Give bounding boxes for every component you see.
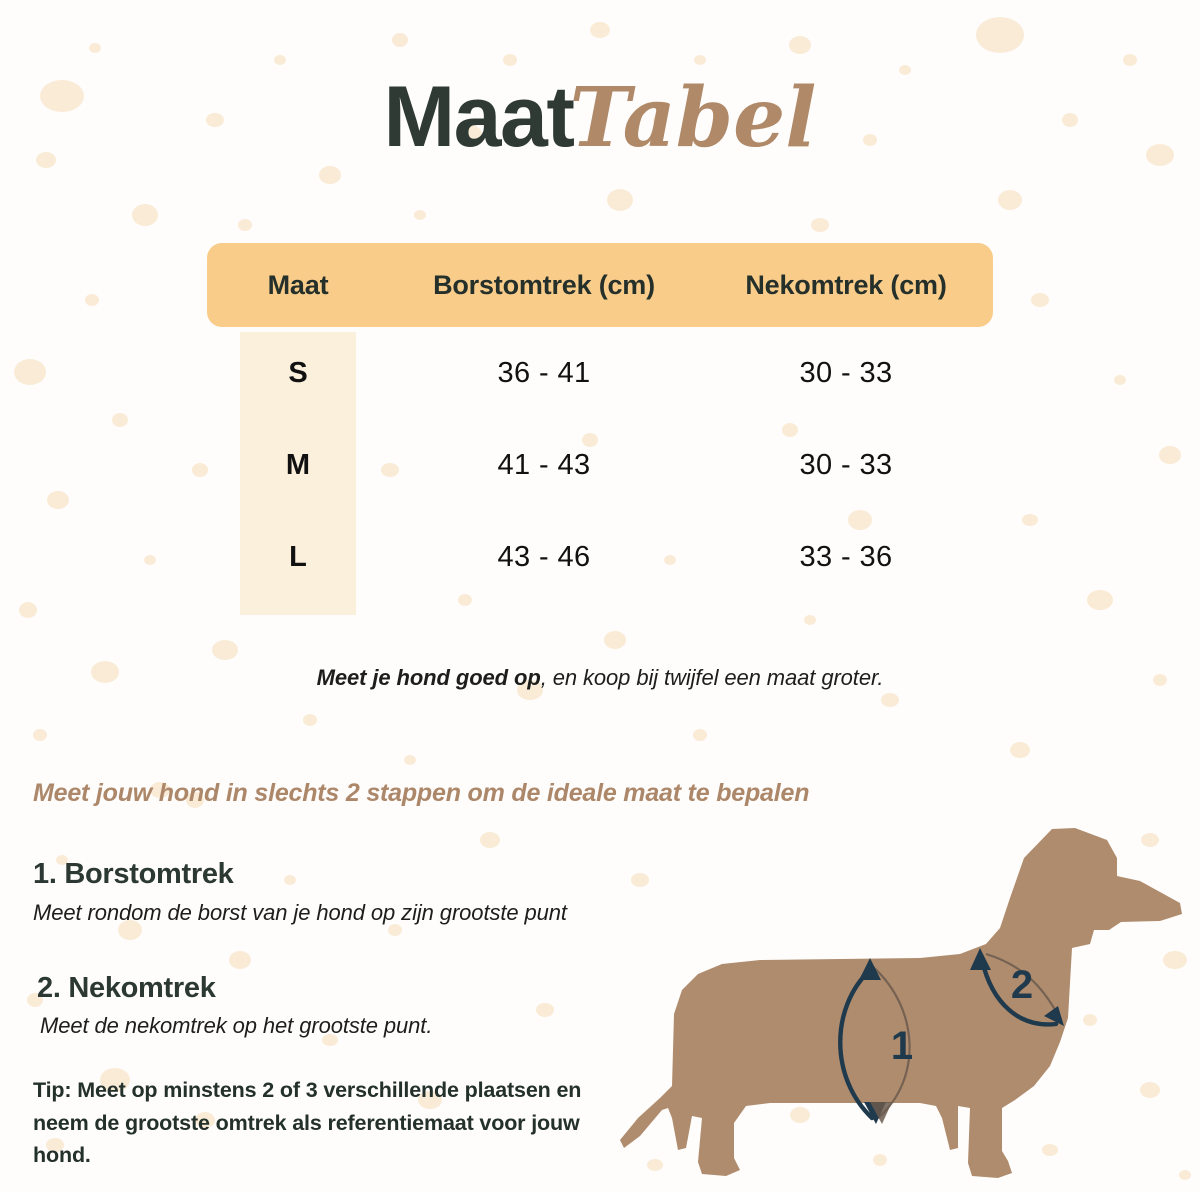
measure-note: Meet je hond goed op, en koop bij twijfe… — [0, 665, 1200, 691]
table-header-row: Maat Borstomtrek (cm) Nekomtrek (cm) — [207, 243, 993, 327]
table-row: M 41 - 43 30 - 33 — [207, 419, 993, 511]
cell-borstomtrek-l: 43 - 46 — [389, 541, 699, 574]
cell-borstomtrek-s: 36 - 41 — [389, 357, 699, 390]
measure-note-bold: Meet je hond goed op — [317, 665, 541, 690]
page-title: MaatTabel — [0, 68, 1200, 167]
measuring-tip: Tip: Meet op minstens 2 of 3 verschillen… — [33, 1074, 603, 1172]
neck-marker-label: 2 — [1011, 963, 1033, 1007]
dog-silhouette — [620, 828, 1182, 1178]
dachshund-illustration: 1 2 — [620, 818, 1200, 1192]
title-main-word: Maat — [384, 69, 574, 165]
column-header-maat: Maat — [207, 270, 389, 301]
cell-nekomtrek-s: 30 - 33 — [699, 357, 993, 390]
step-1-title: 1. Borstomtrek — [33, 858, 233, 891]
step-2-description: Meet de nekomtrek op het grootste punt. — [40, 1013, 432, 1039]
title-script-word: Tabel — [569, 70, 816, 166]
cell-nekomtrek-m: 30 - 33 — [699, 449, 993, 482]
step-2-title: 2. Nekomtrek — [37, 972, 216, 1005]
table-row: S 36 - 41 30 - 33 — [207, 327, 993, 419]
size-table: Maat Borstomtrek (cm) Nekomtrek (cm) S 3… — [207, 243, 993, 603]
column-header-borstomtrek: Borstomtrek (cm) — [389, 270, 699, 301]
steps-section-heading: Meet jouw hond in slechts 2 stappen om d… — [33, 779, 809, 808]
table-row: L 43 - 46 33 - 36 — [207, 511, 993, 603]
cell-size-l: L — [207, 541, 389, 574]
column-header-nekomtrek: Nekomtrek (cm) — [699, 270, 993, 301]
measure-note-rest: , en koop bij twijfel een maat groter. — [541, 665, 884, 690]
step-1-description: Meet rondom de borst van je hond op zijn… — [33, 900, 567, 926]
cell-size-s: S — [207, 357, 389, 390]
chest-marker-label: 1 — [891, 1024, 913, 1068]
cell-size-m: M — [207, 449, 389, 482]
cell-nekomtrek-l: 33 - 36 — [699, 541, 993, 574]
cell-borstomtrek-m: 41 - 43 — [389, 449, 699, 482]
